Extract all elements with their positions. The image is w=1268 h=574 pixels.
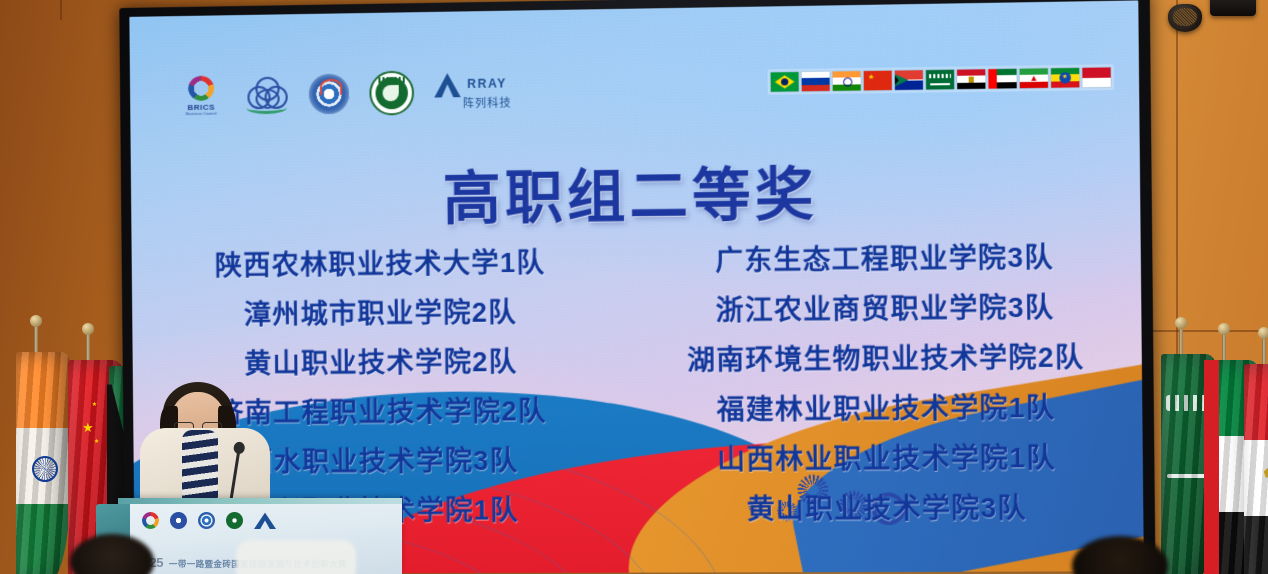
podium-logo-row (142, 512, 276, 529)
list-item: 浙江农业商贸职业学院3队 (716, 285, 1055, 328)
array-mountain-icon (434, 73, 461, 98)
list-item: 黄山职业技术学院3队 (747, 486, 1027, 527)
standing-flag-egypt (1236, 336, 1268, 574)
flag-finial-icon (1175, 317, 1187, 329)
ceiling-light-icon (1168, 4, 1202, 32)
seal-logo (198, 512, 215, 529)
slide-surface: BRICS Business Council RRAY (129, 0, 1144, 574)
brics-logo-text: BRICS (188, 103, 216, 112)
flag-cloth-egypt (1244, 364, 1268, 574)
ceiling-speaker-icon (1210, 0, 1256, 16)
flag-finial-icon (1258, 327, 1268, 339)
list-item: 陕西农林职业技术大学1队 (215, 240, 546, 283)
foreground-blur-object (236, 540, 356, 574)
array-logo (254, 512, 276, 529)
list-item: 丽水职业技术学院3队 (245, 439, 519, 480)
green-logo (226, 512, 243, 529)
standing-flag-india (6, 324, 66, 574)
flag-iran (1020, 68, 1048, 88)
green-circle-logo (369, 71, 414, 116)
flag-south-africa (895, 70, 923, 90)
list-item: 黄山职业技术学院2队 (244, 340, 518, 381)
flag-egypt (957, 69, 985, 89)
podium-top-edge (118, 498, 402, 504)
led-presentation-screen: BRICS Business Council RRAY (119, 0, 1155, 574)
member-country-flag-row: ★ ★ (768, 64, 1114, 95)
brics-logo-subtext: Business Council (186, 112, 217, 116)
list-item: 广东生态工程职业学院3队 (715, 235, 1054, 278)
flag-saudi-arabia (926, 70, 954, 90)
knot-emblem-logo (244, 75, 289, 116)
blue-seal-logo (309, 74, 350, 115)
flag-finial-icon (82, 323, 94, 335)
knot-logo (170, 512, 187, 529)
brics-ring-icon (188, 76, 214, 101)
flag-indonesia (1082, 67, 1110, 87)
array-technology-logo: RRAY 阵列科技 (434, 72, 512, 111)
flag-uae (988, 69, 1016, 89)
slide-title: 高职组二等奖 (131, 144, 1141, 239)
array-logo-subtext: 阵列科技 (463, 94, 512, 111)
conference-hall-photo: ★★★ (0, 0, 1268, 574)
list-item: 漳州城市职业学院2队 (244, 290, 518, 332)
wall-seam (60, 0, 62, 20)
flag-china: ★ (864, 71, 892, 91)
flag-russia (802, 72, 830, 92)
flag-brazil (771, 72, 799, 92)
brics-logo (142, 512, 159, 529)
list-item: 福建林业职业技术学院1队 (717, 385, 1056, 427)
sponsor-logo-bar: BRICS Business Council RRAY (178, 69, 512, 118)
list-item: 山西林业职业技术学院1队 (717, 435, 1056, 477)
array-logo-text: RRAY (467, 72, 507, 95)
flag-finial-icon (30, 315, 42, 327)
list-item: 湖南环境生物职业技术学院2队 (687, 335, 1084, 378)
flag-ethiopia: ★ (1051, 68, 1079, 88)
winner-column-right: 广东生态工程职业学院3队 浙江农业商贸职业学院3队 湖南环境生物职业技术学院2队… (630, 234, 1144, 527)
brics-business-council-logo: BRICS Business Council (178, 75, 225, 116)
flag-finial-icon (1218, 323, 1230, 335)
winner-lists: 陕西农林职业技术大学1队 漳州城市职业学院2队 黄山职业技术学院2队 济南工程职… (132, 234, 1144, 529)
flag-india (833, 71, 861, 91)
